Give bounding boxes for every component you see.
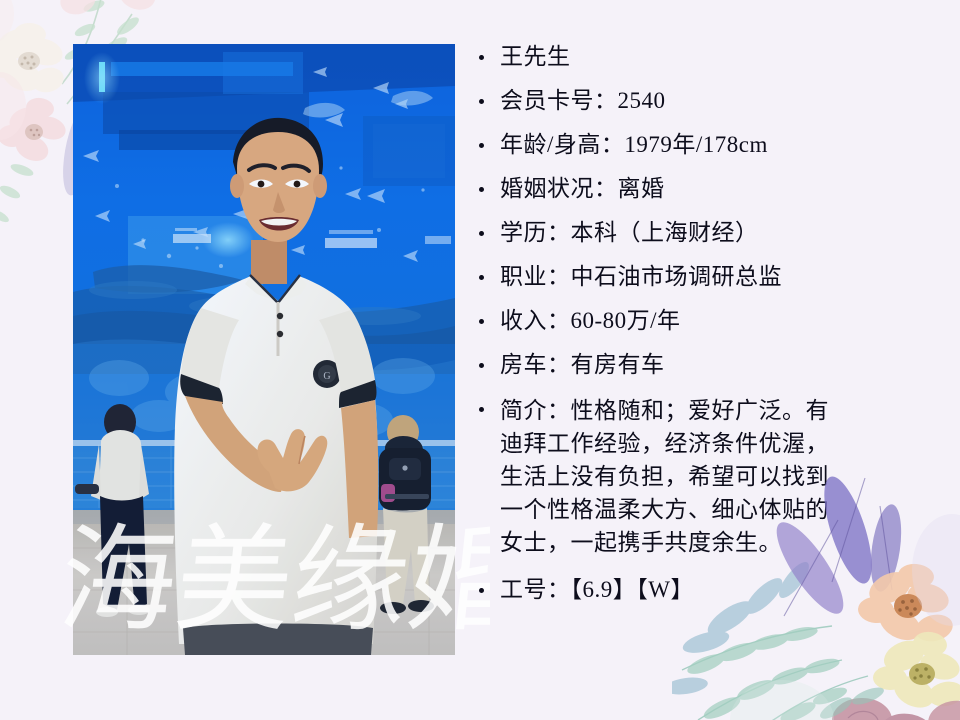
info-text: 年龄/身高：1979年/178cm (500, 132, 768, 157)
info-text: 工号：【6.9】【W】 (500, 577, 694, 602)
intro-line: 女士，一起携手共度余生。 (500, 526, 894, 559)
info-item-occupation: 职业：中石油市场调研总监 (474, 262, 894, 292)
info-item-member-card: 会员卡号：2540 (474, 86, 894, 116)
intro-line: 生活上没有负担，希望可以找到 (500, 460, 894, 493)
info-item-education: 学历：本科（上海财经） (474, 218, 894, 248)
aquarium-photo-graphic: G (73, 44, 455, 655)
info-item-marital-status: 婚姻状况：离婚 (474, 174, 894, 204)
info-text: 婚姻状况：离婚 (500, 176, 665, 201)
info-item-income: 收入：60-80万/年 (474, 306, 894, 336)
intro-line: 简介：性格随和；爱好广泛。有 (500, 394, 894, 427)
info-item-age-height: 年龄/身高：1979年/178cm (474, 130, 894, 160)
intro-line: 一个性格温柔大方、细心体贴的 (500, 493, 894, 526)
intro-line: 迪拜工作经验，经济条件优渥， (500, 427, 894, 460)
info-text: 学历：本科（上海财经） (500, 220, 759, 245)
info-text: 王先生 (500, 44, 571, 69)
info-text: 收入：60-80万/年 (500, 308, 681, 333)
info-item-introduction: 简介：性格随和；爱好广泛。有 迪拜工作经验，经济条件优渥， 生活上没有负担，希望… (474, 394, 894, 559)
info-item-work-number: 工号：【6.9】【W】 (474, 575, 894, 605)
slide-canvas: G 海美缘婚介 王先生 (0, 0, 960, 720)
member-info-list: 王先生 会员卡号：2540 年龄/身高：1979年/178cm 婚姻状况：离婚 … (474, 42, 894, 619)
member-photo: G (73, 44, 455, 655)
info-text: 会员卡号：2540 (500, 88, 666, 113)
info-item-name: 王先生 (474, 42, 894, 72)
info-item-property: 房车：有房有车 (474, 350, 894, 380)
info-text: 职业：中石油市场调研总监 (500, 264, 782, 289)
info-text: 房车：有房有车 (500, 352, 665, 377)
